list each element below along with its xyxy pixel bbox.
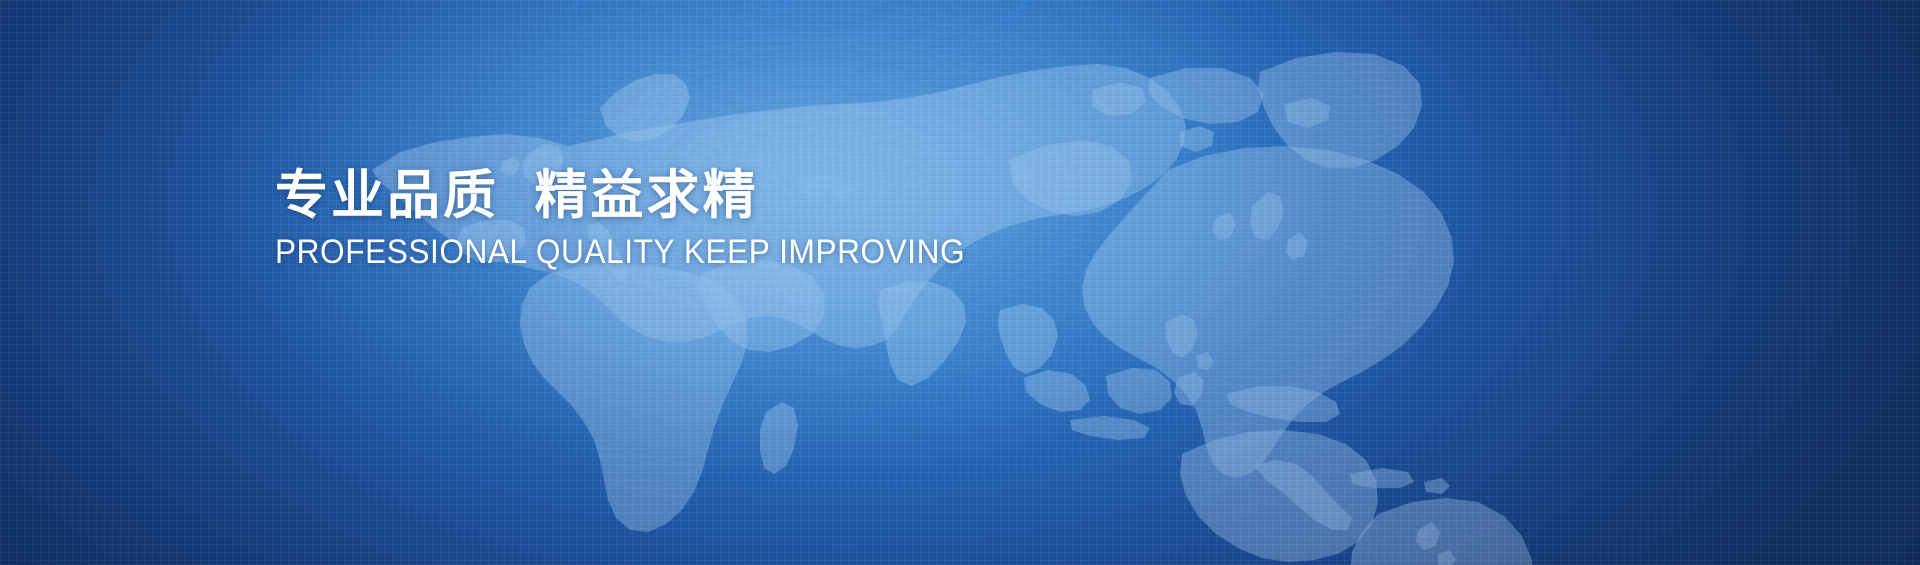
hero-banner: 专业品质 精益求精 PROFESSIONAL QUALITY KEEP IMPR…: [0, 0, 1920, 565]
banner-subtitle-english: PROFESSIONAL QUALITY KEEP IMPROVING: [275, 235, 1112, 271]
banner-text-block: 专业品质 精益求精 PROFESSIONAL QUALITY KEEP IMPR…: [275, 168, 1175, 271]
world-map-landmasses: [372, 52, 1534, 565]
banner-headline-chinese: 专业品质 精益求精: [275, 168, 1175, 224]
world-map: [0, 0, 1920, 565]
